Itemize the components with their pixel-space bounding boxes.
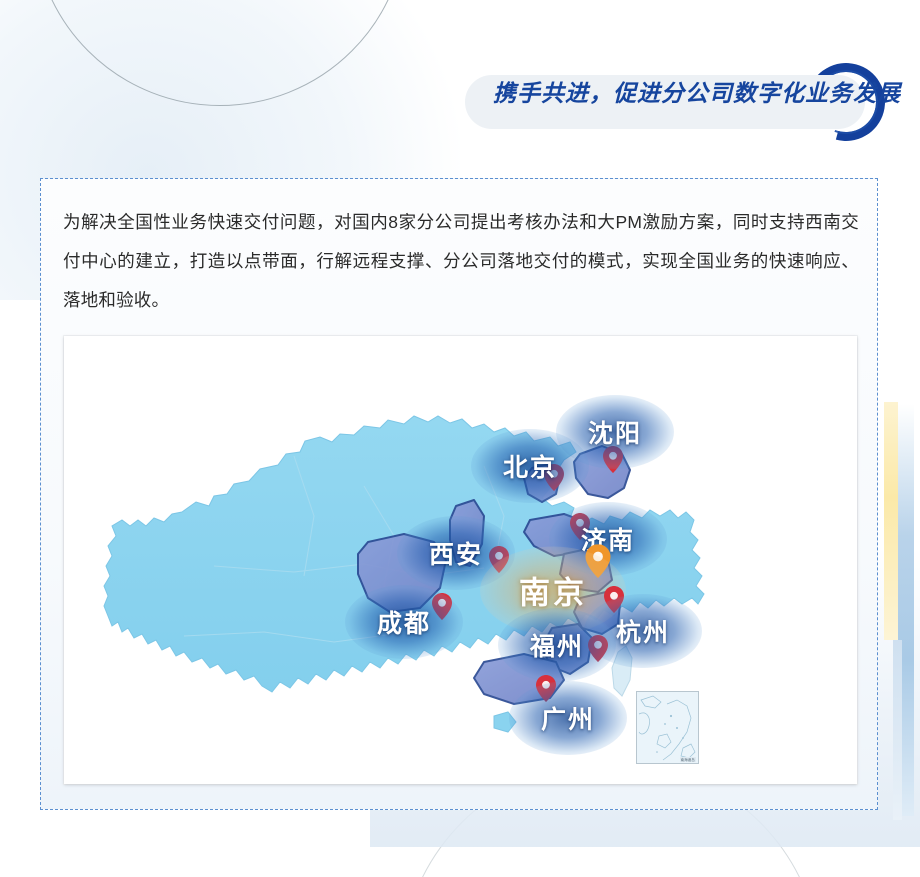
inset-map-graphic bbox=[637, 692, 699, 764]
map-hainan bbox=[494, 712, 516, 732]
slide-page: 携手共进，促进分公司数字化业务发展 为解决全国性业务快速交付问题，对国内8家分公… bbox=[0, 0, 920, 877]
page-title: 携手共进，促进分公司数字化业务发展 bbox=[493, 74, 901, 108]
map-taiwan bbox=[612, 646, 632, 696]
inset-caption: 南海诸岛 bbox=[680, 757, 696, 762]
china-map-graphic bbox=[64, 336, 857, 784]
china-map-viewport: 南海诸岛 bbox=[64, 336, 857, 784]
title-banner: 携手共进，促进分公司数字化业务发展 bbox=[455, 63, 885, 141]
decorative-arc-top-left bbox=[33, 0, 407, 106]
content-panel: 为解决全国性业务快速交付问题，对国内8家分公司提出考核办法和大PM激励方案，同时… bbox=[40, 178, 878, 810]
accent-strip-blue-secondary bbox=[893, 640, 902, 820]
accent-strip-yellow bbox=[884, 402, 898, 640]
accent-strip-blue bbox=[898, 404, 914, 816]
south-china-sea-inset: 南海诸岛 bbox=[636, 691, 699, 764]
description-paragraph: 为解决全国性业务快速交付问题，对国内8家分公司提出考核办法和大PM激励方案，同时… bbox=[63, 203, 859, 320]
china-map-card: 南海诸岛 bbox=[64, 336, 857, 784]
